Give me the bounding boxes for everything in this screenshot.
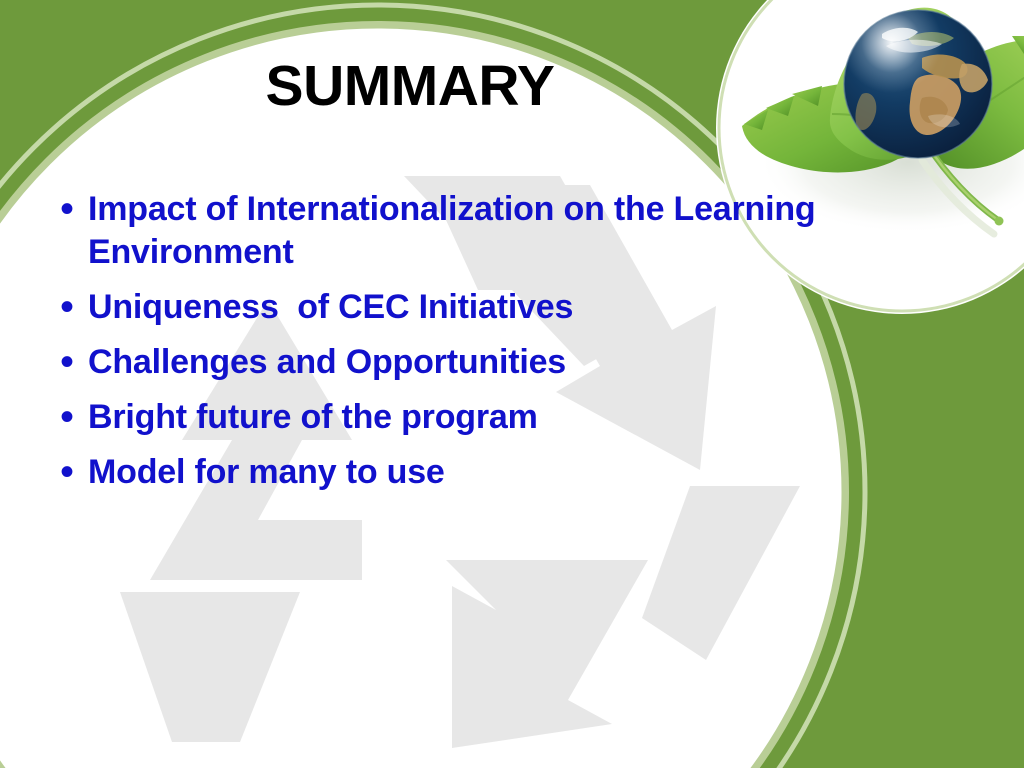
- list-item: • Bright future of the program: [52, 396, 932, 439]
- bullet-marker-icon: •: [52, 451, 88, 494]
- presentation-slide: SUMMARY • Impact of Internationalization…: [0, 0, 1024, 768]
- bullet-marker-icon: •: [52, 286, 88, 329]
- bullet-text: Model for many to use: [88, 451, 932, 494]
- green-leaf: [830, 8, 969, 160]
- bullet-marker-icon: •: [52, 188, 88, 231]
- list-item: • Impact of Internationalization on the …: [52, 188, 932, 274]
- bullet-text: Uniqueness of CEC Initiatives: [88, 286, 932, 329]
- list-item: • Uniqueness of CEC Initiatives: [52, 286, 932, 329]
- green-leaf: [924, 39, 1024, 168]
- bullet-text: Challenges and Opportunities: [88, 341, 932, 384]
- list-item: • Model for many to use: [52, 451, 932, 494]
- bullet-marker-icon: •: [52, 396, 88, 439]
- bullet-marker-icon: •: [52, 341, 88, 384]
- page-title: SUMMARY: [0, 58, 820, 115]
- bullet-list: • Impact of Internationalization on the …: [52, 188, 932, 506]
- leaf-stem: [928, 146, 998, 220]
- earth-globe-europe-africa: [844, 10, 992, 158]
- bullet-text: Bright future of the program: [88, 396, 932, 439]
- list-item: • Challenges and Opportunities: [52, 341, 932, 384]
- bullet-text: Impact of Internationalization on the Le…: [88, 188, 878, 274]
